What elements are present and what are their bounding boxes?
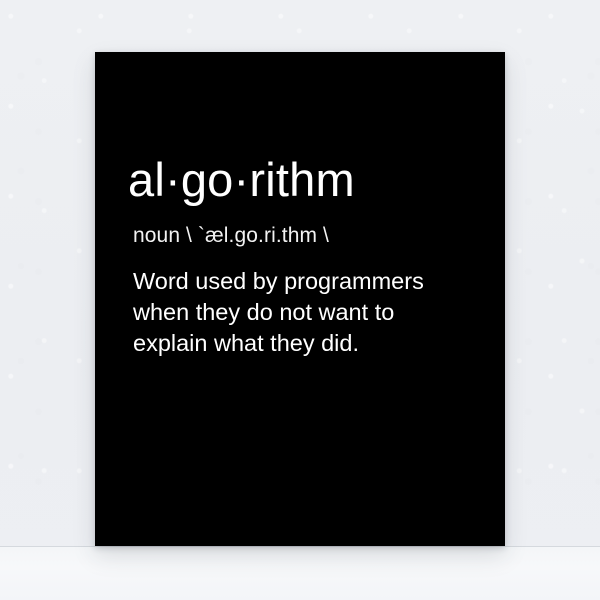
definition-line: explain what they did. (133, 328, 483, 359)
poster-text-block: al·go·rithm noun \ `æl.go.ri.thm \ Word … (128, 156, 483, 358)
floor-surface (0, 547, 600, 600)
definition-poster: al·go·rithm noun \ `æl.go.ri.thm \ Word … (95, 52, 505, 546)
headword-title: al·go·rithm (128, 156, 483, 205)
definition-text: Word used by programmers when they do no… (133, 266, 483, 358)
definition-line: when they do not want to (133, 297, 483, 328)
definition-line: Word used by programmers (133, 266, 483, 297)
pronunciation-line: noun \ `æl.go.ri.thm \ (133, 223, 483, 248)
poster-inner: al·go·rithm noun \ `æl.go.ri.thm \ Word … (95, 52, 505, 546)
poster-scene: al·go·rithm noun \ `æl.go.ri.thm \ Word … (0, 0, 600, 600)
